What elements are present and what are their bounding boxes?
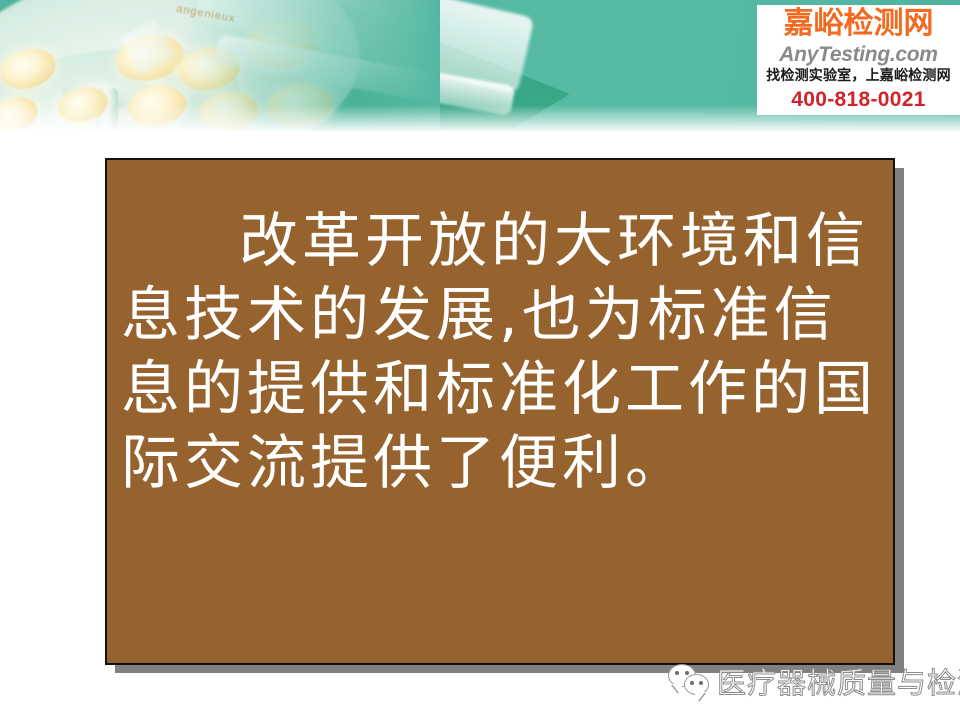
logo-english-name: AnyTesting.com: [779, 44, 937, 65]
logo-phone-number: 400-818-0021: [791, 89, 925, 111]
wechat-icon: [668, 664, 710, 698]
wechat-eye: [675, 671, 679, 675]
wechat-eye: [685, 671, 689, 675]
wechat-watermark: 医疗器械质量与检测: [668, 660, 960, 702]
watermark-label: 医疗器械质量与检测: [717, 660, 960, 702]
anytesting-logo-card[interactable]: 嘉峪检测网 AnyTesting.com 找检测实验室，上嘉峪检测网 400-8…: [757, 5, 960, 115]
logo-tagline: 找检测实验室，上嘉峪检测网: [766, 69, 951, 84]
wechat-eye: [690, 681, 694, 685]
content-box: 改革开放的大环境和信息技术的发展,也为标准信息的提供和标准化工作的国际交流提供了…: [105, 158, 895, 665]
logo-chinese-name: 嘉峪检测网: [784, 8, 934, 40]
presentation-slide: angenieux 嘉峪检测网 AnyTesting.com 找检测实验室，上嘉…: [0, 0, 960, 720]
slide-body-text: 改革开放的大环境和信息技术的发展,也为标准信息的提供和标准化工作的国际交流提供了…: [121, 204, 883, 500]
wechat-bubble-small: [684, 674, 709, 695]
wechat-eye: [699, 681, 703, 685]
